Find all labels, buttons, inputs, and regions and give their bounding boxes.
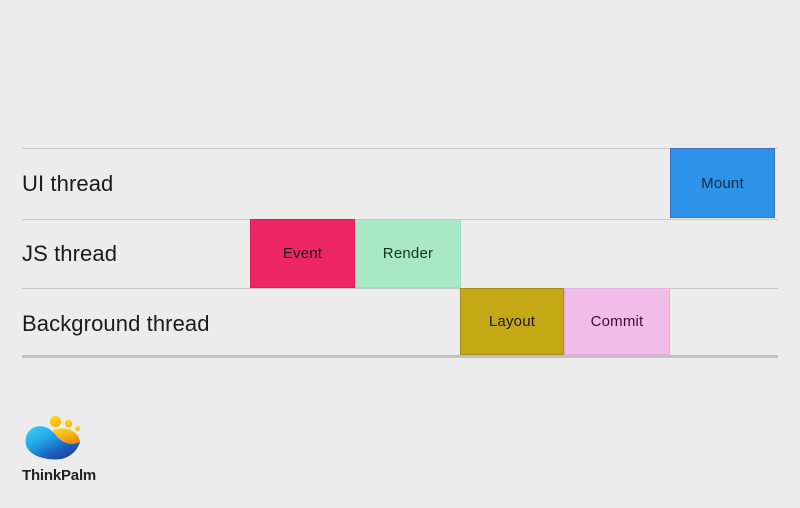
thinkpalm-logo-icon [22, 415, 84, 463]
lane-label-js-thread: JS thread [22, 243, 117, 265]
timeline-block-mount: Mount [670, 148, 775, 218]
lane-divider-bottom [22, 355, 778, 358]
thinkpalm-wordmark: ThinkPalm [22, 467, 96, 484]
timeline-block-layout: Layout [460, 288, 564, 355]
lane-label-ui-thread: UI thread [22, 173, 113, 195]
lane-divider-top [22, 148, 778, 149]
timeline-block-event: Event [250, 219, 355, 288]
logo-dot-large [50, 416, 61, 427]
logo-dot-medium [65, 420, 73, 428]
logo-dot-small [75, 426, 80, 431]
timeline-block-commit: Commit [564, 288, 670, 355]
lane-label-background-thread: Background thread [22, 313, 210, 335]
thinkpalm-logo: ThinkPalm [22, 415, 142, 495]
timeline-block-render: Render [355, 219, 461, 288]
